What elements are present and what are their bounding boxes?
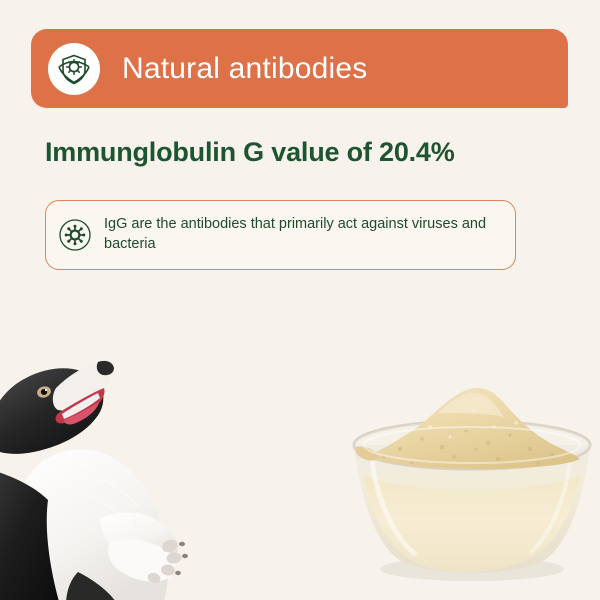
border-collie-photo <box>0 330 227 600</box>
igg-info-text: IgG are the antibodies that primarily ac… <box>104 215 499 254</box>
igg-info-card: IgG are the antibodies that primarily ac… <box>45 200 516 270</box>
page-title: Immunglobulin G value of 20.4% <box>45 136 455 168</box>
natural-antibodies-banner: Natural antibodies <box>31 29 568 108</box>
powder-bowl-photo <box>338 383 600 583</box>
virus-icon <box>58 218 92 252</box>
shield-virus-icon <box>48 43 100 95</box>
banner-title: Natural antibodies <box>122 54 367 84</box>
product-infographic-page: Natural antibodies Immunglobulin G value… <box>0 0 600 600</box>
